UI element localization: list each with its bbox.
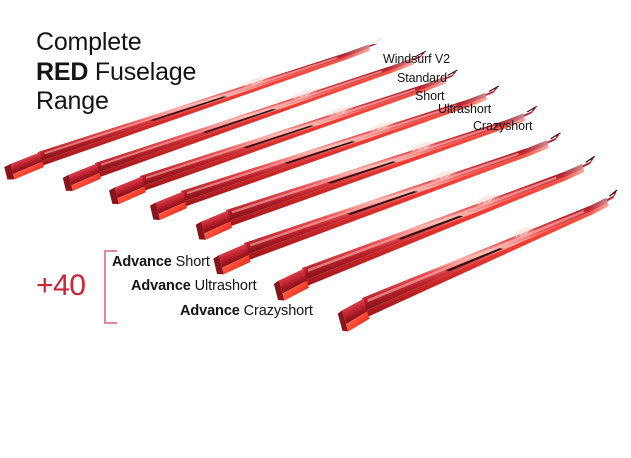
fuselage-6-advance-short bbox=[204, 132, 575, 276]
fuselage-7-advance-ultrashort bbox=[263, 155, 611, 302]
advance-label-crazyshort: Advance Crazyshort bbox=[180, 303, 313, 319]
advance-variant-1: Ultrashort bbox=[191, 278, 257, 294]
model-label-crazyshort: Crazyshort bbox=[473, 119, 532, 133]
fuselage-8-advance-crazyshort bbox=[325, 189, 631, 333]
advance-label-ultrashort: Advance Ultrashort bbox=[131, 278, 257, 294]
title-fuselage-word: Fuselage bbox=[88, 58, 196, 86]
title-line-2: RED Fuselage bbox=[36, 58, 196, 88]
page-title: Complete RED Fuselage Range bbox=[36, 28, 196, 117]
model-label-standard: Standard bbox=[397, 71, 447, 85]
title-line-1: Complete bbox=[36, 28, 196, 58]
advance-variant-2: Crazyshort bbox=[240, 303, 313, 319]
advance-label-short: Advance Short bbox=[112, 254, 210, 270]
advance-word-0: Advance bbox=[112, 254, 172, 270]
model-label-short: Short bbox=[415, 89, 444, 103]
advance-word-1: Advance bbox=[131, 278, 191, 294]
title-line-3: Range bbox=[36, 87, 196, 117]
advance-word-2: Advance bbox=[180, 303, 240, 319]
advance-variant-0: Short bbox=[172, 254, 210, 270]
model-label-windsurf-v2: Windsurf V2 bbox=[383, 52, 450, 66]
fuselage-range-poster: Complete RED Fuselage Range Windsurf V2 … bbox=[0, 0, 631, 458]
plus-forty-amount: +40 bbox=[36, 271, 85, 301]
model-label-ultrashort: Ultrashort bbox=[438, 102, 491, 116]
title-red-word: RED bbox=[36, 58, 88, 86]
